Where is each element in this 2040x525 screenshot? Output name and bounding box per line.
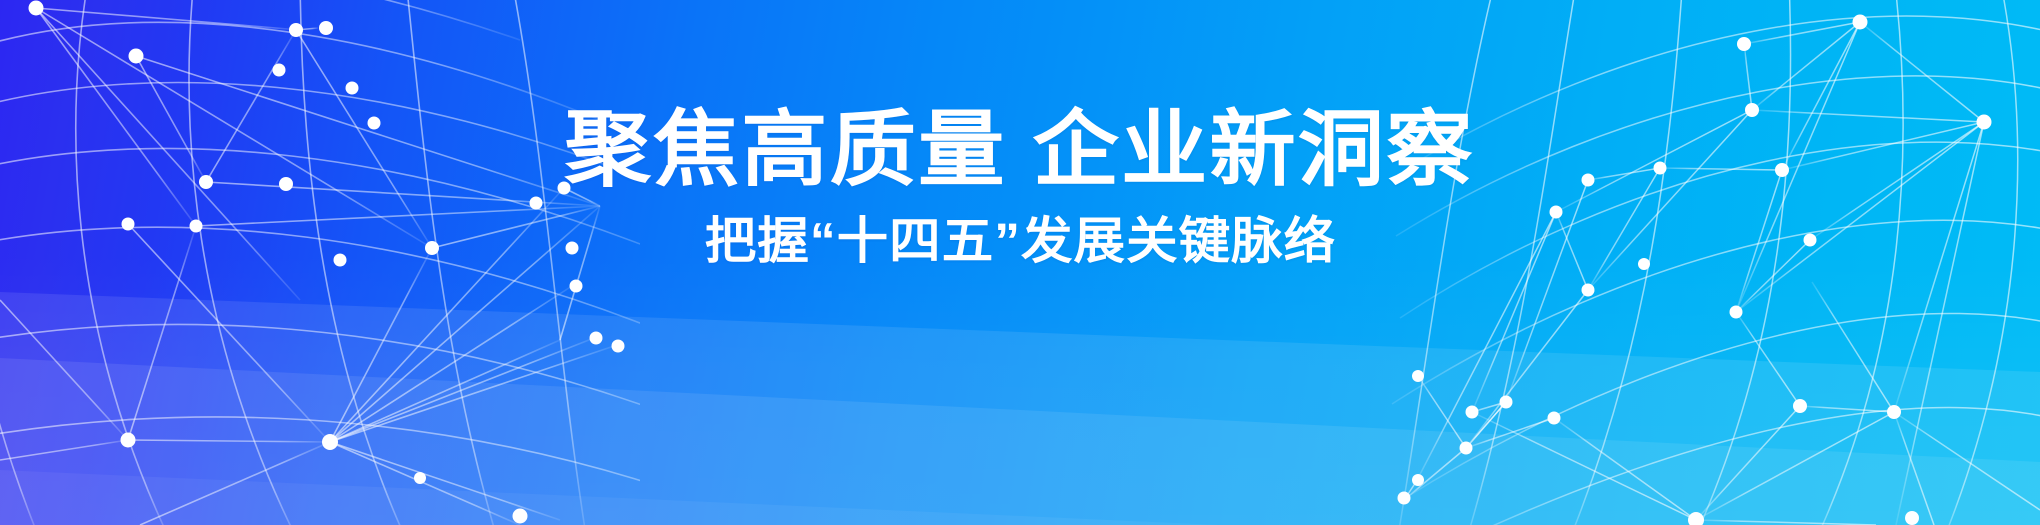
background-vertical-sheen — [0, 0, 2040, 525]
banner-root: 聚焦高质量 企业新洞察 把握“十四五”发展关键脉络 — [0, 0, 2040, 525]
